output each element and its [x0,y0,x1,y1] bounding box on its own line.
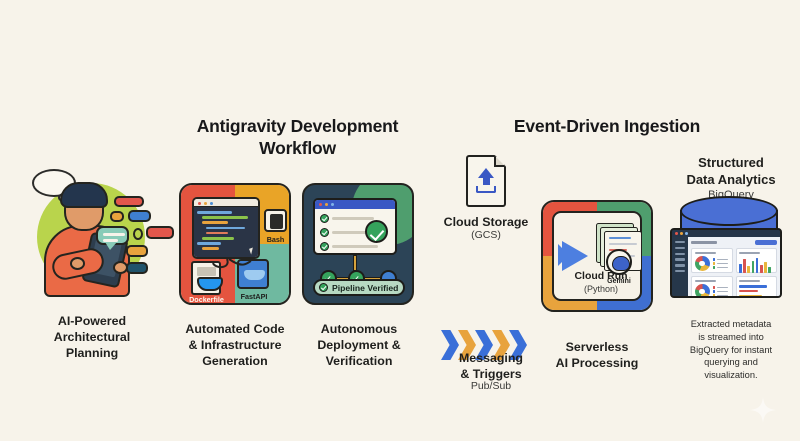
success-check-icon [365,220,388,243]
ui-chip-2 [110,211,124,222]
pipeline-connector [353,255,357,271]
ui-chip-4 [133,228,143,240]
body-line3: BigQuery for instant [665,344,797,357]
bar-chart-icon [739,256,774,273]
database-cylinder-top [680,196,778,226]
sparkle-icon [750,397,776,423]
editor-titlebar [194,199,258,207]
ui-chip-5 [146,226,174,239]
section-title-right: Event-Driven Ingestion [487,115,727,137]
caption-bigquery-body: Extracted metadata is streamed into BigQ… [665,318,797,382]
caption-serverless: Serverless AI Processing [535,339,659,371]
dashboard-titlebar [672,230,780,237]
caption-serverless-line2: AI Processing [535,355,659,371]
label-fastapi: FastAPI [233,292,275,301]
chat-bubble-icon [96,226,129,245]
dashboard-sidebar[interactable] [672,237,688,296]
body-line4: querying and [665,356,797,369]
donut-chart-icon [695,284,710,298]
ui-chip-1 [114,196,144,207]
body-line5: visualization. [665,369,797,382]
fastapi-cube-icon [237,259,269,289]
check-icon [320,242,329,251]
status-badge-label: Pipeline Verified [332,283,398,293]
chart-card-donut-2 [691,276,733,298]
checklist-item [320,214,374,223]
caption-verification-line3: Verification [300,353,418,369]
section-title-left-line1: Antigravity Development [170,115,425,137]
person-hand-left [70,257,85,270]
cloud-run-card: Gemini Cloud Run (Python) [552,211,642,301]
check-icon [319,283,328,292]
checklist-item [320,228,368,237]
body-line2: is streamed into [665,331,797,344]
check-icon [320,228,329,237]
dashboard-content [688,237,780,296]
bigquery-database-icon [670,196,790,304]
body-line1: Extracted metadata [665,318,797,331]
upload-arrow-stem [483,177,490,185]
label-cloud-run: Cloud Run [554,270,648,284]
autonomous-verification-panel: Pipeline Verified [302,183,414,305]
cloud-storage-icon [466,155,506,207]
donut-chart-icon [695,256,710,271]
cloud-run-panel: Gemini Cloud Run (Python) [541,200,653,312]
infographic-canvas: Antigravity Development Workflow Event-D… [0,0,800,441]
label-dockerfile: Dockerfile [183,295,230,304]
caption-codegen: Automated Code & Infrastructure Generati… [172,321,298,369]
horizontal-bar-chart-icon [739,284,774,298]
sub-caption-pubsub: Pub/Sub [436,380,546,394]
status-badge-pipeline-verified: Pipeline Verified [313,279,405,296]
caption-verification-line2: Deployment & [300,337,418,353]
caption-cloud-storage: Cloud Storage [437,214,535,230]
caption-planning: AI-Powered Architectural Planning [8,313,176,361]
upload-tray-icon [476,186,496,193]
section-title-left-line2: Workflow [170,137,425,159]
bash-cube-icon [264,209,287,232]
dashboard-chart-grid [691,248,777,298]
label-bash: Bash [259,235,291,244]
automated-code-panel: Bash Dockerfile FastAPI [179,183,291,305]
caption-messaging: Messaging & Triggers [436,350,546,382]
caption-planning-line1: AI-Powered [8,313,176,329]
checklist-window-icon [313,198,397,255]
ui-chip-3 [128,210,151,222]
label-cloud-run-python: (Python) [554,284,648,296]
ui-chip-6 [126,245,148,257]
section-title-left: Antigravity Development Workflow [170,115,425,160]
editor-code-area [194,207,258,257]
checklist-item [320,242,378,251]
mouse-cursor-icon [249,247,255,254]
sub-caption-gcs: (GCS) [437,229,535,243]
chart-card-bars [736,248,778,273]
caption-codegen-line3: Generation [172,353,298,369]
chart-card-hbars [736,276,778,298]
caption-verification: Autonomous Deployment & Verification [300,321,418,369]
caption-planning-line2: Architectural [8,329,176,345]
caption-bigquery: Structured Data Analytics [668,155,794,189]
caption-bigquery-line1: Structured [668,155,794,172]
caption-planning-line3: Planning [8,345,176,361]
caption-verification-line1: Autonomous [300,321,418,337]
ui-chip-7 [126,262,148,274]
chart-card-donut-1 [691,248,733,273]
checklist-titlebar [315,200,395,209]
person-hair [60,182,108,208]
whale-shape [197,277,223,291]
code-editor-icon [192,197,260,259]
caption-codegen-line1: Automated Code [172,321,298,337]
caption-bigquery-line2: Data Analytics [668,172,794,189]
dashboard-action-button[interactable] [755,240,777,245]
docker-whale-icon [191,261,221,295]
analytics-dashboard-window [670,228,782,298]
caption-messaging-line1: Messaging [436,350,546,366]
check-icon [320,214,329,223]
cloud-run-play-icon [562,241,588,271]
caption-serverless-line1: Serverless [535,339,659,355]
dashboard-header [691,240,777,245]
brain-icon [612,256,630,271]
caption-codegen-line2: & Infrastructure [172,337,298,353]
